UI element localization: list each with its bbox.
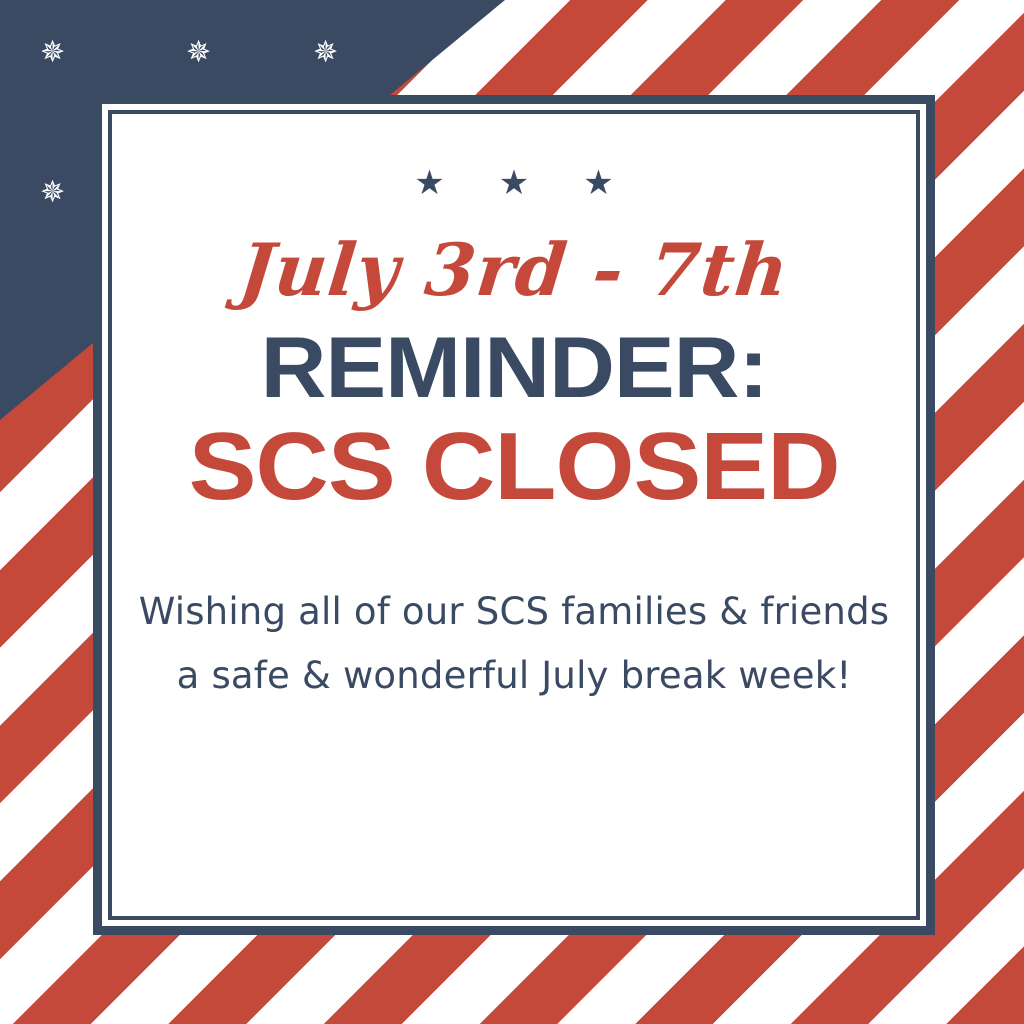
poster-canvas: ✵ ✵ ✵ ✵ ★ ★ ★ July 3rd - 7th REMINDER: S…	[0, 0, 1024, 1024]
body-message: Wishing all of our SCS families & friend…	[139, 580, 890, 707]
star-icon: ✵	[186, 38, 211, 68]
star-icon: ★	[583, 166, 613, 200]
star-icon: ✵	[40, 38, 65, 68]
headline-secondary: SCS CLOSED	[189, 420, 840, 514]
announcement-card: ★ ★ ★ July 3rd - 7th REMINDER: SCS CLOSE…	[93, 95, 935, 935]
body-message-line2: a safe & wonderful July break week!	[139, 644, 890, 708]
headline-primary: REMINDER:	[260, 326, 767, 410]
star-icon: ★	[414, 166, 444, 200]
star-icon: ✵	[313, 38, 338, 68]
date-range: July 3rd - 7th	[236, 234, 792, 306]
card-content: ★ ★ ★ July 3rd - 7th REMINDER: SCS CLOSE…	[102, 104, 926, 926]
star-icon: ✵	[40, 178, 65, 208]
star-icon: ★	[499, 166, 529, 200]
star-divider: ★ ★ ★	[414, 166, 613, 200]
body-message-line1: Wishing all of our SCS families & friend…	[139, 580, 890, 644]
